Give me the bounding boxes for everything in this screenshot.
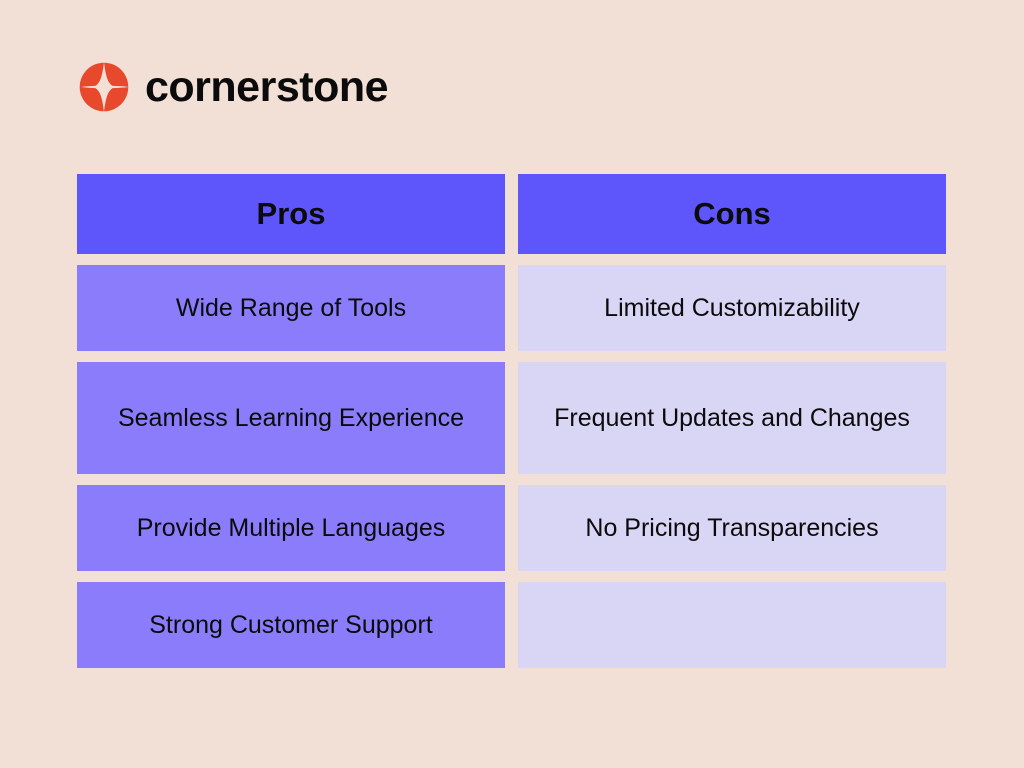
- pros-cell-4: Strong Customer Support: [77, 582, 505, 668]
- brand-wordmark: cornerstone: [145, 66, 388, 109]
- pros-header-cell: Pros: [77, 174, 505, 254]
- slide-canvas: cornerstone Pros Wide Range of Tools Sea…: [0, 0, 1024, 768]
- cons-cell-2: Frequent Updates and Changes: [518, 362, 946, 474]
- pros-cons-table: Pros Wide Range of Tools Seamless Learni…: [77, 174, 947, 668]
- pros-cell-1: Wide Range of Tools: [77, 265, 505, 351]
- brand-logo: cornerstone: [77, 60, 388, 114]
- cons-column: Cons Limited Customizability Frequent Up…: [518, 174, 946, 668]
- cons-cell-3: No Pricing Transparencies: [518, 485, 946, 571]
- pros-cell-2: Seamless Learning Experience: [77, 362, 505, 474]
- cons-header-cell: Cons: [518, 174, 946, 254]
- pros-column: Pros Wide Range of Tools Seamless Learni…: [77, 174, 505, 668]
- pros-cell-3: Provide Multiple Languages: [77, 485, 505, 571]
- cons-cell-1: Limited Customizability: [518, 265, 946, 351]
- cons-cell-4: [518, 582, 946, 668]
- sparkle-star-circle-icon: [77, 60, 131, 114]
